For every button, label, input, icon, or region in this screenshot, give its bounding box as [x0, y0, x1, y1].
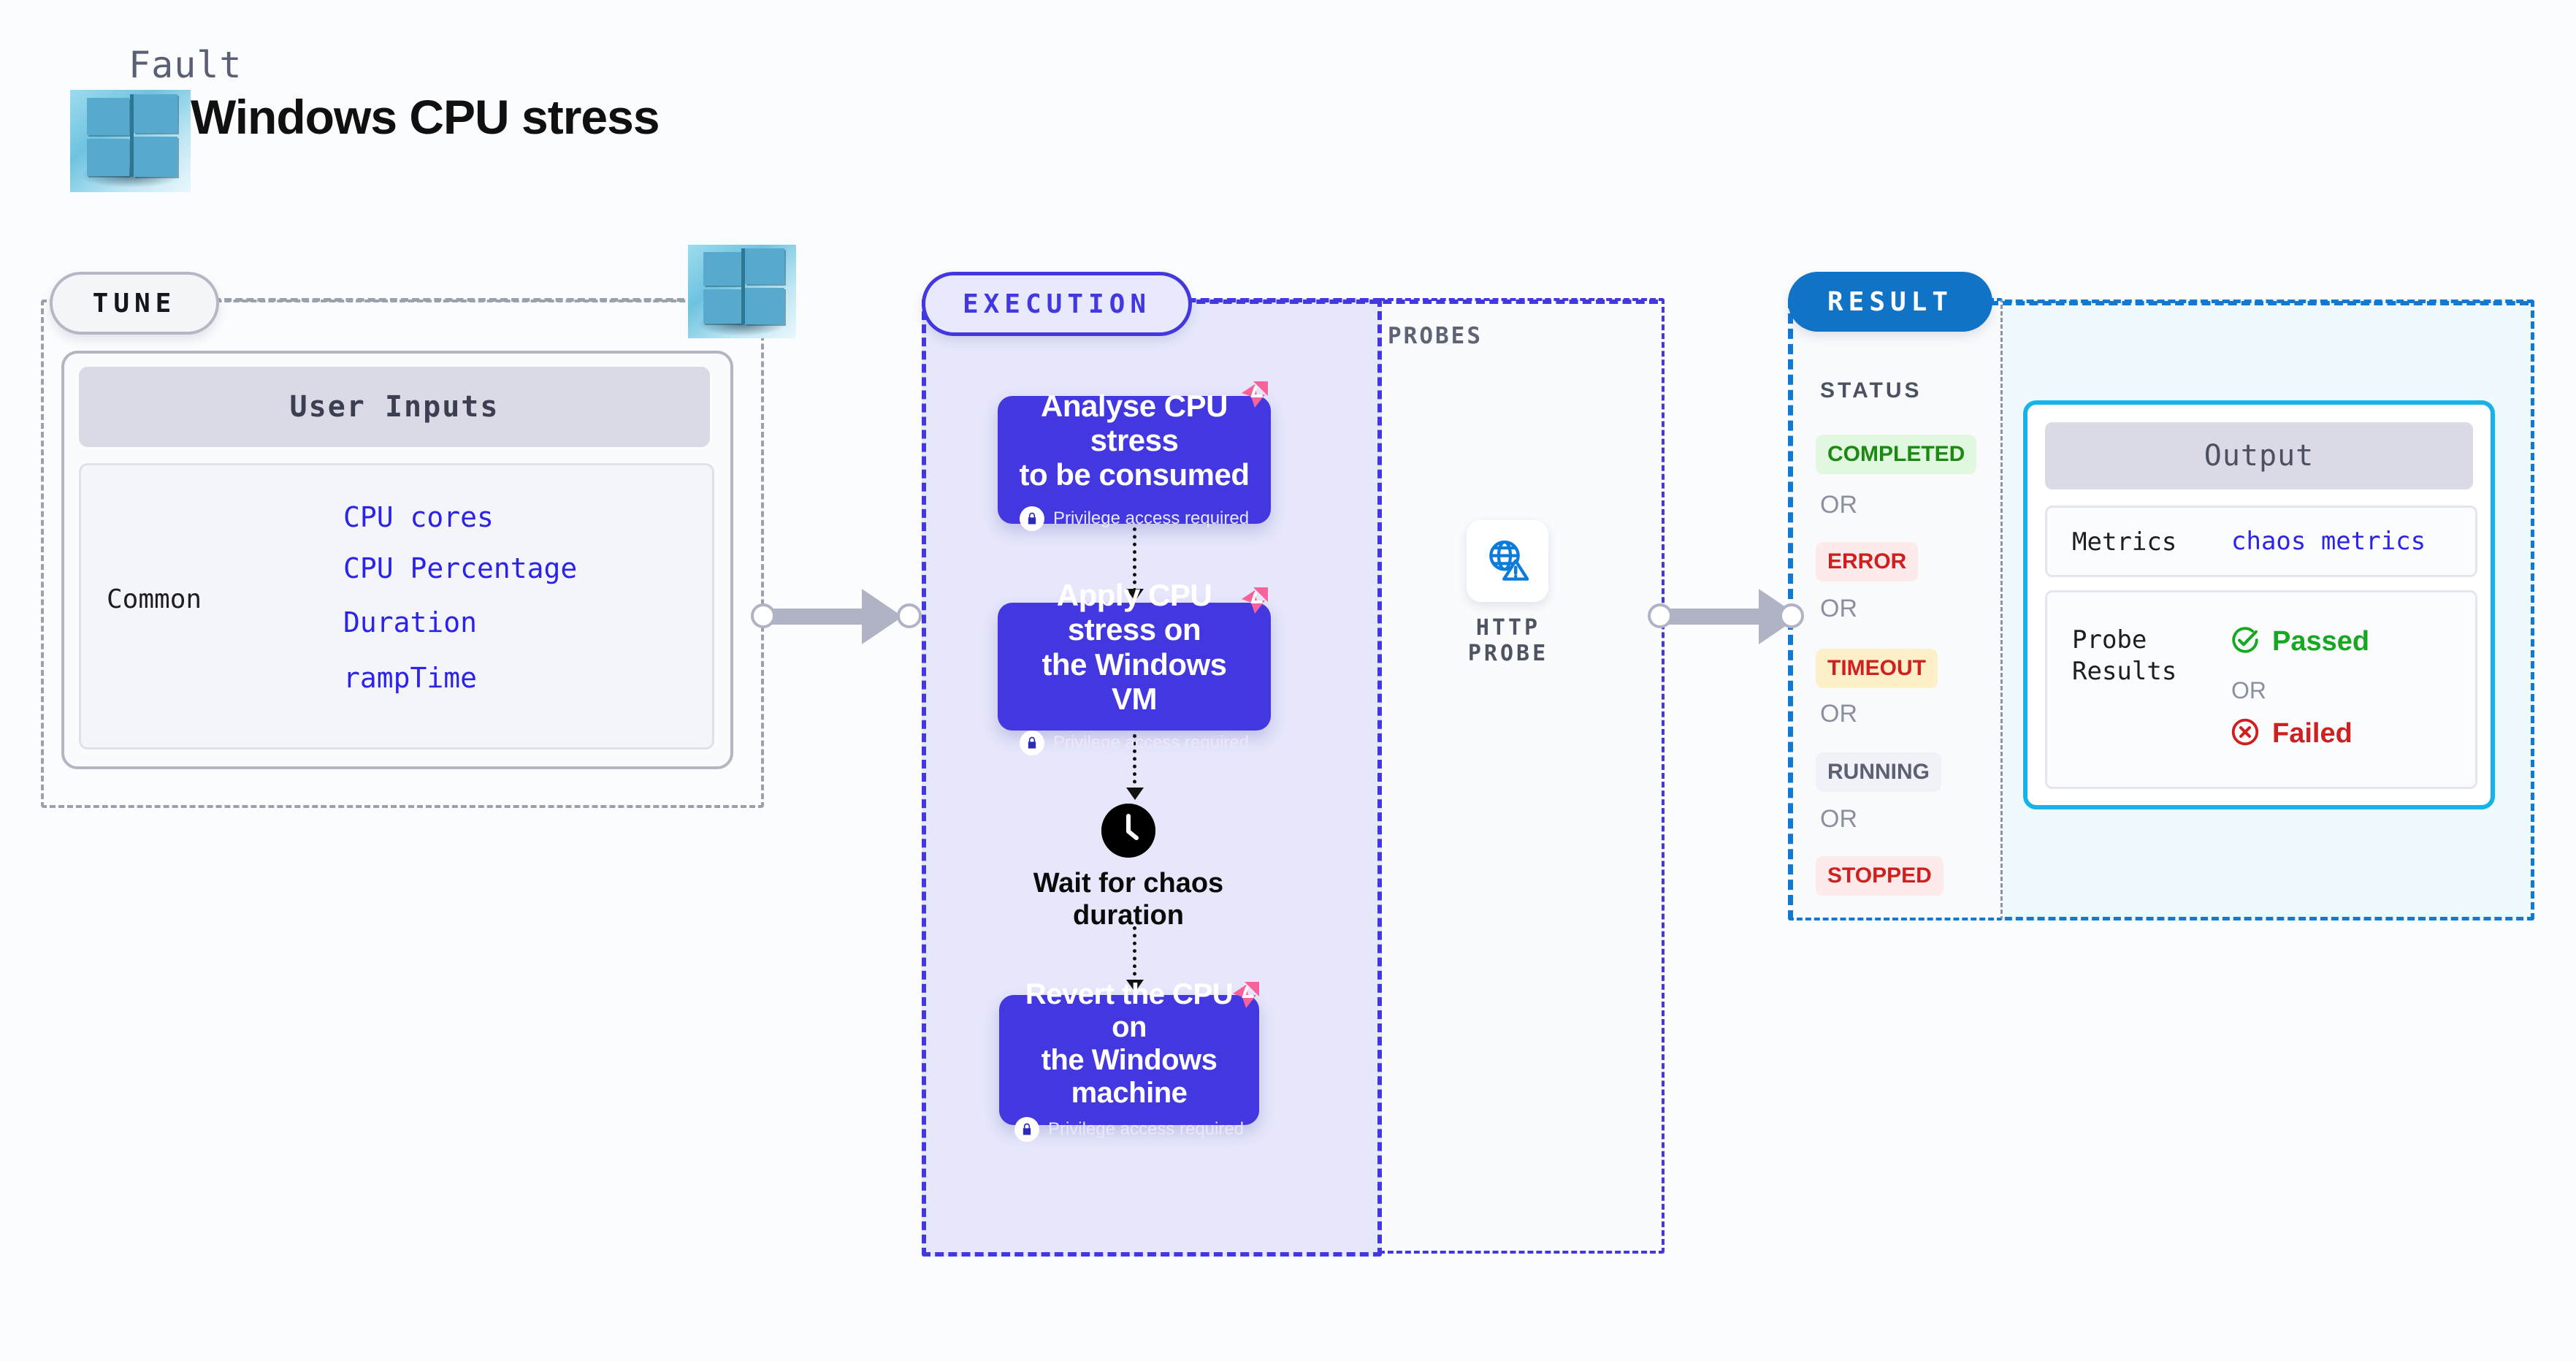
output-metrics-row: Metrics chaos metrics — [2045, 506, 2477, 577]
tune-top-connector-line — [213, 298, 695, 302]
probe-item-http[interactable] — [1467, 520, 1548, 602]
flow-arrow-3 — [1133, 926, 1136, 983]
wait-label-line2: duration — [1073, 900, 1184, 931]
tune-section-pill[interactable]: TUNE — [50, 272, 219, 335]
connector-start-dot — [1648, 603, 1673, 628]
execution-top-connector-line — [1183, 300, 1658, 304]
input-cpu-cores[interactable]: CPU cores — [343, 501, 494, 533]
execution-section-pill[interactable]: EXECUTION — [922, 272, 1192, 336]
output-probe-results-row: Probe Results Passed OR Failed — [2045, 590, 2477, 789]
litmus-logo-icon — [1236, 378, 1269, 412]
output-card-header: Output — [2045, 422, 2473, 489]
card-title-line2: the Windows — [1042, 1044, 1218, 1076]
or-label: OR — [1820, 595, 1857, 623]
probes-section-label: PROBES — [1388, 323, 1483, 349]
card-title-line2: the Windows VM — [1042, 647, 1226, 716]
or-label: OR — [1820, 491, 1857, 519]
status-badge-completed: COMPLETED — [1816, 435, 1976, 474]
x-circle-icon — [2230, 717, 2260, 751]
status-badge-running: RUNNING — [1816, 752, 1941, 792]
globe-warning-icon — [1484, 536, 1531, 587]
lock-icon — [1014, 1117, 1039, 1142]
wait-label-line1: Wait for chaos — [1033, 868, 1223, 899]
connector-end-dot — [897, 603, 922, 628]
input-group-label: Common — [107, 584, 202, 614]
input-duration[interactable]: Duration — [343, 606, 477, 638]
windows-logo-icon — [688, 245, 796, 338]
connector-end-dot — [1779, 603, 1804, 628]
page-header: Fault Windows CPU stress — [70, 44, 800, 175]
card-title-line1: Analyse CPU stress — [1041, 389, 1228, 457]
privilege-note-text: Privilege access required — [1048, 1119, 1244, 1140]
probes-section — [1370, 298, 1665, 1254]
status-title: STATUS — [1820, 378, 1922, 403]
execution-card-analyse[interactable]: Analyse CPU stress to be consumed Privil… — [998, 396, 1271, 524]
passed-label: Passed — [2272, 626, 2369, 657]
windows-logo-icon — [70, 90, 191, 192]
status-badge-timeout: TIMEOUT — [1816, 649, 1938, 688]
input-cpu-percentage[interactable]: CPU Percentage — [343, 552, 577, 584]
probe-result-passed: Passed — [2230, 625, 2369, 659]
input-ramptime[interactable]: rampTime — [343, 662, 477, 694]
card-title-line2: to be consumed — [1019, 457, 1249, 492]
clock-icon — [1101, 804, 1155, 858]
probe-results-label-line1: Probe — [2072, 625, 2147, 655]
fault-kicker-label: Fault — [129, 44, 242, 86]
privilege-note: Privilege access required — [1020, 731, 1249, 755]
user-inputs-header: User Inputs — [79, 367, 710, 447]
card-title-line3: machine — [1071, 1077, 1188, 1109]
wait-node-label: Wait for chaos duration — [1001, 868, 1256, 931]
failed-label: Failed — [2272, 718, 2353, 750]
or-label: OR — [1820, 805, 1857, 834]
result-section-pill[interactable]: RESULT — [1788, 272, 1992, 332]
privilege-note: Privilege access required — [1020, 506, 1249, 531]
litmus-logo-icon — [1236, 584, 1269, 618]
status-badge-stopped: STOPPED — [1816, 856, 1944, 896]
page-title: Windows CPU stress — [191, 89, 660, 145]
lock-icon — [1020, 731, 1044, 755]
privilege-note-text: Privilege access required — [1053, 733, 1249, 753]
execution-card-revert[interactable]: Revert the CPU on the Windows machine Pr… — [999, 995, 1259, 1125]
probe-item-label: HTTP PROBE — [1432, 615, 1585, 666]
status-badge-error: ERROR — [1816, 542, 1918, 582]
or-label: OR — [1820, 700, 1857, 728]
metrics-label: Metrics — [2072, 527, 2176, 558]
result-top-connector-line — [1990, 301, 2529, 305]
card-title-line1: Revert the CPU on — [1025, 978, 1233, 1043]
litmus-logo-icon — [1227, 979, 1261, 1013]
probe-result-failed: Failed — [2230, 717, 2353, 751]
or-label: OR — [2231, 677, 2266, 704]
flow-arrow-2-head — [1126, 788, 1144, 800]
privilege-note: Privilege access required — [1014, 1117, 1244, 1142]
probe-results-label: Probe Results — [2072, 625, 2176, 687]
metrics-value[interactable]: chaos metrics — [2231, 527, 2426, 556]
probe-results-label-line2: Results — [2072, 657, 2176, 686]
execution-card-apply[interactable]: Apply CPU stress on the Windows VM Privi… — [998, 603, 1271, 731]
connector-start-dot — [751, 603, 776, 628]
lock-icon — [1020, 506, 1044, 531]
card-title-line1: Apply CPU stress on — [1057, 578, 1212, 647]
privilege-note-text: Privilege access required — [1053, 508, 1249, 529]
check-circle-icon — [2230, 625, 2260, 659]
